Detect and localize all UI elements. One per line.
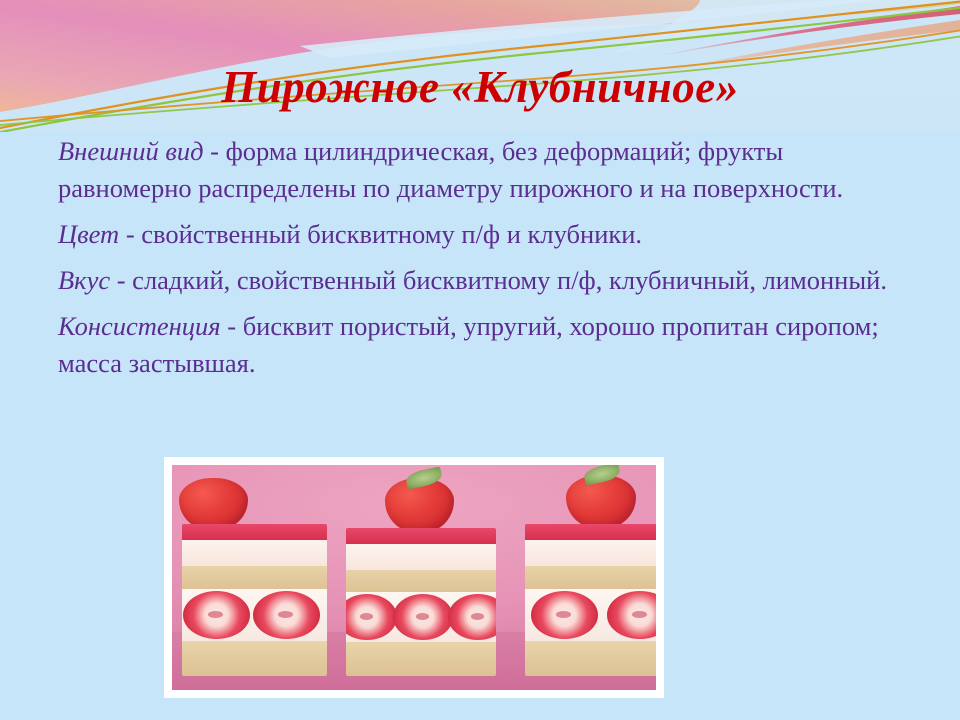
cake-layer-sponge-top <box>346 570 496 592</box>
cake-slice-left <box>182 524 327 677</box>
cake-layer-sponge-base <box>182 641 327 676</box>
photo-frame <box>164 457 664 698</box>
paragraph-body-taste: - сладкий, свойственный бисквитному п/ф,… <box>110 265 887 295</box>
strawberry-whole-right <box>566 475 636 529</box>
page-title: Пирожное «Клубничное» <box>0 60 960 114</box>
paragraph-lead-appearance: Внешний вид <box>58 136 204 166</box>
strawberry-slice <box>253 591 320 639</box>
cake-layer-jelly <box>346 528 496 544</box>
cake-layer-jelly <box>182 524 327 541</box>
cake-layer-cream-top <box>182 540 327 566</box>
slide: Пирожное «Клубничное» Внешний вид - форм… <box>0 0 960 720</box>
strawberry-slice <box>346 594 397 640</box>
paragraph-lead-consistency: Консистенция <box>58 311 221 341</box>
strawberry-slice <box>183 591 250 639</box>
paragraph-lead-color: Цвет <box>58 219 119 249</box>
cake-layer-sponge-top <box>182 566 327 589</box>
cake-layer-cream-top <box>525 540 656 566</box>
strawberry-whole-left <box>179 478 249 530</box>
cake-layer-jelly <box>525 524 656 541</box>
cake-layer-sponge-base <box>525 641 656 676</box>
strawberry-slice <box>393 594 453 640</box>
cake-layer-sponge-top <box>525 566 656 589</box>
strawberry-slice <box>531 591 598 639</box>
paragraph-color: Цвет - свойственный бисквитному п/ф и кл… <box>58 216 914 253</box>
paragraph-consistency: Консистенция - бисквит пористый, упругий… <box>58 308 914 382</box>
cake-layer-cream-with-berries <box>525 589 656 641</box>
cake-layer-cream-with-berries <box>346 592 496 642</box>
cake-layer-sponge-base <box>346 642 496 676</box>
strawberry-cake-slices-photo <box>172 465 656 690</box>
paragraph-lead-taste: Вкус <box>58 265 110 295</box>
description-list: Внешний вид - форма цилиндрическая, без … <box>58 133 914 391</box>
strawberry-slice <box>607 591 656 639</box>
cake-layer-cream-top <box>346 544 496 569</box>
paragraph-appearance: Внешний вид - форма цилиндрическая, без … <box>58 133 914 207</box>
cake-layer-cream-with-berries <box>182 589 327 641</box>
cake-slice-right <box>525 524 656 677</box>
paragraph-body-color: - свойственный бисквитному п/ф и клубник… <box>119 219 642 249</box>
strawberry-slice <box>448 594 496 640</box>
paragraph-taste: Вкус - сладкий, свойственный бисквитному… <box>58 262 914 299</box>
cake-slice-center <box>346 528 496 677</box>
